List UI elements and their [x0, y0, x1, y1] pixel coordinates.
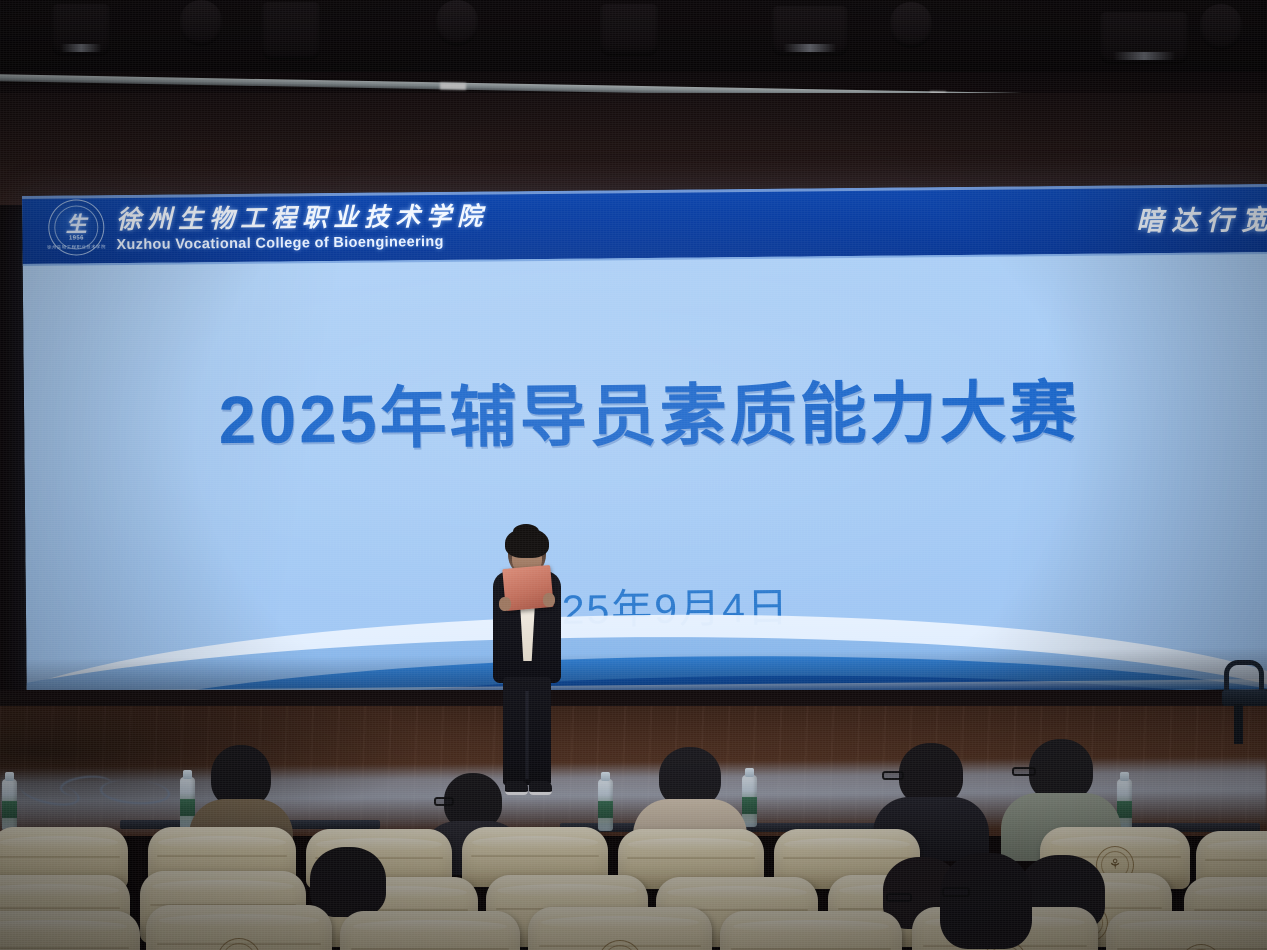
- glasses-icon: [886, 893, 912, 902]
- glasses-icon: [1012, 767, 1036, 776]
- hall-ceiling: [0, 0, 1267, 200]
- spotlight-icon: [52, 4, 110, 56]
- slide-title: 2025年辅导员素质能力大赛: [24, 356, 1267, 465]
- spotlight-icon: [436, 0, 478, 46]
- spotlight-icon: [1100, 12, 1188, 64]
- spotlight-icon: [772, 6, 848, 56]
- spotlight-icon: [1200, 4, 1242, 50]
- water-bottle: [598, 779, 613, 831]
- banner-calligraphy: 暗达行宽: [1136, 198, 1267, 238]
- hair-bun: [513, 524, 539, 539]
- lighting-truss: [0, 0, 1267, 72]
- glasses-icon: [942, 887, 970, 897]
- spotlight-icon: [890, 2, 932, 48]
- spotlight-icon: [262, 2, 320, 60]
- glasses-icon: [434, 797, 454, 806]
- stage-chair: [1222, 650, 1267, 746]
- slide-banner: 生 1956 徐州生物工程职业技术学院 徐州生物工程职业技术学院 Xuzhou …: [22, 184, 1267, 266]
- audience-person: [938, 853, 1034, 949]
- auditorium-seat: [340, 911, 520, 950]
- auditorium-seat: ⚘: [146, 905, 332, 950]
- spotlight-icon: [600, 4, 658, 56]
- institution-name-cn: 徐州生物工程职业技术学院: [116, 196, 488, 236]
- auditorium-seat: ⚘: [1106, 911, 1267, 950]
- seal-year: 1956: [69, 235, 84, 241]
- college-seal-icon: 生 1956 徐州生物工程职业技术学院: [48, 199, 105, 256]
- auditorium-seat: [0, 911, 140, 950]
- institution-name-en: Xuzhou Vocational College of Bioengineer…: [116, 233, 488, 253]
- projection-screen: 生 1956 徐州生物工程职业技术学院 徐州生物工程职业技术学院 Xuzhou …: [22, 184, 1267, 701]
- auditorium-seat: ⚘: [528, 907, 712, 950]
- seal-mark: 生: [66, 208, 87, 238]
- audience-area: ⚘ ⚘: [0, 735, 1267, 950]
- water-bottle: [2, 779, 17, 831]
- glasses-icon: [882, 771, 904, 780]
- spotlight-icon: [180, 0, 222, 46]
- seat-emblem-icon: ⚘: [217, 938, 261, 950]
- presentation-slide: 生 1956 徐州生物工程职业技术学院 徐州生物工程职业技术学院 Xuzhou …: [22, 184, 1267, 701]
- seat-emblem-glyph: ⚘: [1109, 857, 1122, 871]
- seal-arc-text: 徐州生物工程职业技术学院: [47, 244, 106, 251]
- auditorium-photo: 生 1956 徐州生物工程职业技术学院 徐州生物工程职业技术学院 Xuzhou …: [0, 0, 1267, 950]
- auditorium-seat: [720, 911, 902, 950]
